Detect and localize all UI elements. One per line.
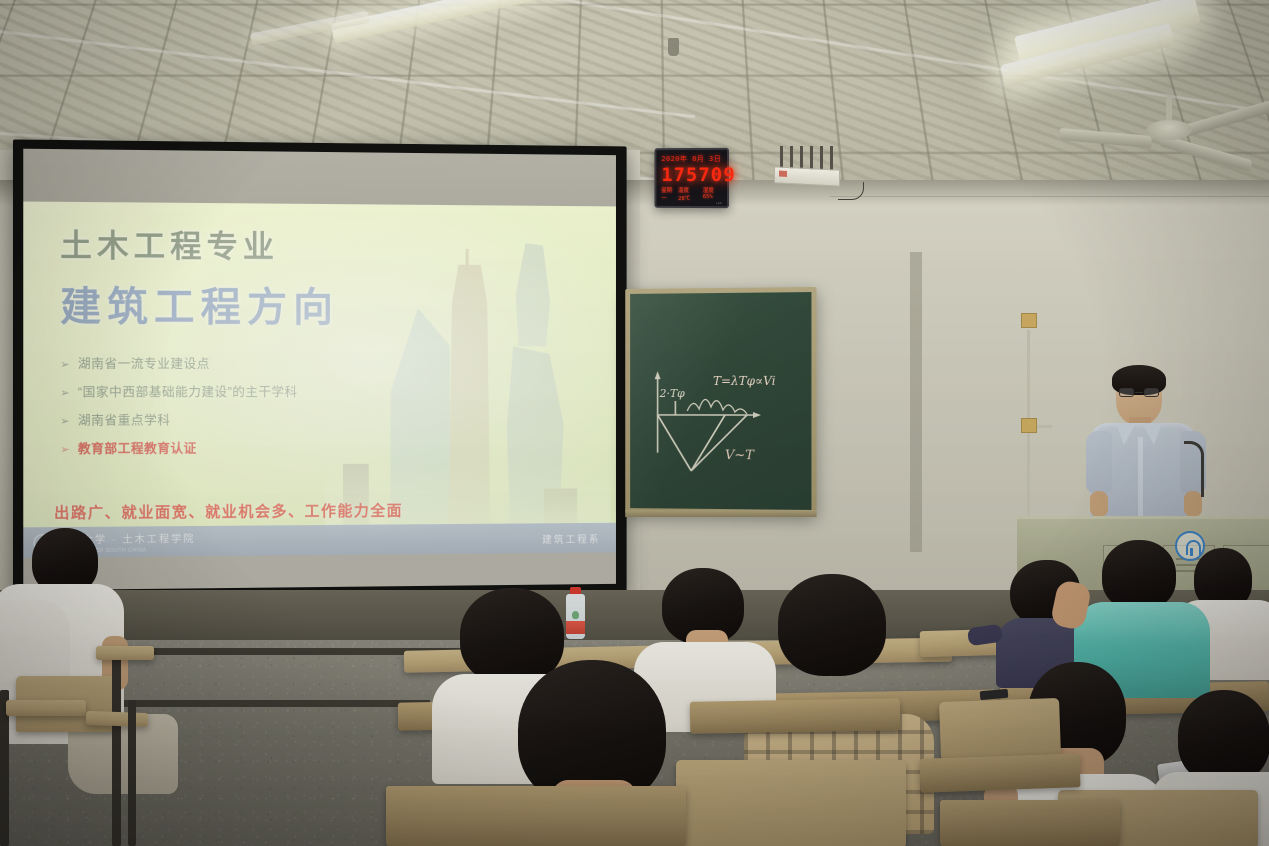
presenter-shirt-placket [1138, 437, 1143, 523]
clock-status-row: 星期一 温度 28℃ 湿度 65% [661, 186, 722, 202]
digital-clock: 2020年 8月 3日 175709 星期一 温度 28℃ 湿度 65% LED [654, 148, 729, 208]
wall-seam [830, 196, 1269, 197]
desk-row [690, 698, 901, 734]
junction-box [1021, 418, 1037, 433]
desk-row [386, 786, 686, 846]
student-head [1178, 690, 1269, 784]
bullet-arrow-icon: ➢ [60, 358, 69, 371]
slide-bullet-text: 湖南省一流专业建设点 [78, 353, 210, 372]
seat-back [676, 760, 906, 846]
signal-jammer-icon [778, 146, 842, 182]
ceiling-fixture-icon [668, 38, 679, 56]
slide-title-main: 土木工程专业 [60, 220, 616, 268]
slide-footer-department: 建筑工程系 [542, 530, 600, 545]
blackboard-surface: 2·Tφ T=λTφ∝Vi V~T [630, 292, 811, 510]
blackboard-reflection [630, 292, 811, 510]
junction-box [1021, 313, 1037, 328]
clock-date: 2020年 8月 3日 [661, 154, 721, 164]
clock-date-row: 2020年 8月 3日 [661, 154, 722, 164]
slide-bullet-text: 湖南省重点学科 [78, 409, 171, 428]
seat-frame [128, 700, 136, 846]
slide-bullet-item: ➢ “国家中西部基础能力建设”的主干学科 [60, 381, 616, 401]
presenter [1080, 365, 1210, 530]
clock-time-display: 175709 [661, 165, 722, 184]
bullet-arrow-icon: ➢ [60, 443, 69, 456]
classroom-photo: 土木工程专业 建筑工程方向 ➢ 湖南省一流专业建设点 ➢ “国家中西部基础能力建… [0, 0, 1269, 846]
student-head [778, 574, 886, 676]
slide-title-sub: 建筑工程方向 [60, 274, 616, 334]
desk-row [940, 800, 1120, 846]
slide-bullet-text: 教育部工程教育认证 [78, 437, 197, 457]
bullet-arrow-icon: ➢ [60, 415, 69, 428]
projector-screen: 土木工程专业 建筑工程方向 ➢ 湖南省一流专业建设点 ➢ “国家中西部基础能力建… [13, 139, 627, 601]
chalk-tray [625, 510, 816, 517]
slide-bullet-item: ➢ 湖南省一流专业建设点 [60, 353, 616, 372]
water-bottle-icon [566, 587, 585, 639]
seat-frame [112, 650, 121, 846]
microphone-stand-icon [1184, 441, 1204, 497]
desk-arm [6, 700, 86, 716]
slide-bullet-text: “国家中西部基础能力建设”的主干学科 [78, 381, 298, 400]
clock-weekday: 星期一 [661, 186, 674, 202]
desk-row [919, 753, 1080, 793]
glasses-icon [1118, 388, 1160, 397]
clock-brand: LED [716, 201, 722, 205]
desk-arm [86, 711, 148, 727]
student-head [460, 588, 564, 684]
student-head [1102, 540, 1176, 610]
slide-bullet-list: ➢ 湖南省一流专业建设点 ➢ “国家中西部基础能力建设”的主干学科 ➢ 湖南省重… [60, 353, 616, 457]
presenter-hand [1090, 491, 1108, 517]
screen-blank-band [23, 149, 616, 207]
wall-corner [910, 252, 922, 552]
projector-screen-surface: 土木工程专业 建筑工程方向 ➢ 湖南省一流专业建设点 ➢ “国家中西部基础能力建… [23, 149, 616, 591]
desk-arm [96, 646, 154, 660]
ceiling-fan-icon [1146, 120, 1192, 140]
bullet-arrow-icon: ➢ [60, 386, 69, 399]
blackboard: 2·Tφ T=λTφ∝Vi V~T [625, 287, 816, 515]
clock-temperature: 温度 28℃ [678, 186, 699, 202]
slide-bullet-item-highlighted: ➢ 教育部工程教育认证 [60, 436, 616, 457]
slide-footer: 南华大学 · 土木工程学院 UNIVERSITY OF SOUTH CHINA … [23, 523, 616, 558]
ceiling-fan-rod [1166, 95, 1172, 123]
presentation-slide: 土木工程专业 建筑工程方向 ➢ 湖南省一流专业建设点 ➢ “国家中西部基础能力建… [23, 201, 616, 557]
seat-back [939, 698, 1061, 758]
slide-tagline: 出路广、就业面宽、就业机会多、工作能力全面 [54, 499, 403, 523]
presenter-arm [1086, 431, 1112, 493]
slide-bullet-item: ➢ 湖南省重点学科 [60, 408, 616, 428]
clock-humidity: 湿度 65% [703, 186, 722, 202]
